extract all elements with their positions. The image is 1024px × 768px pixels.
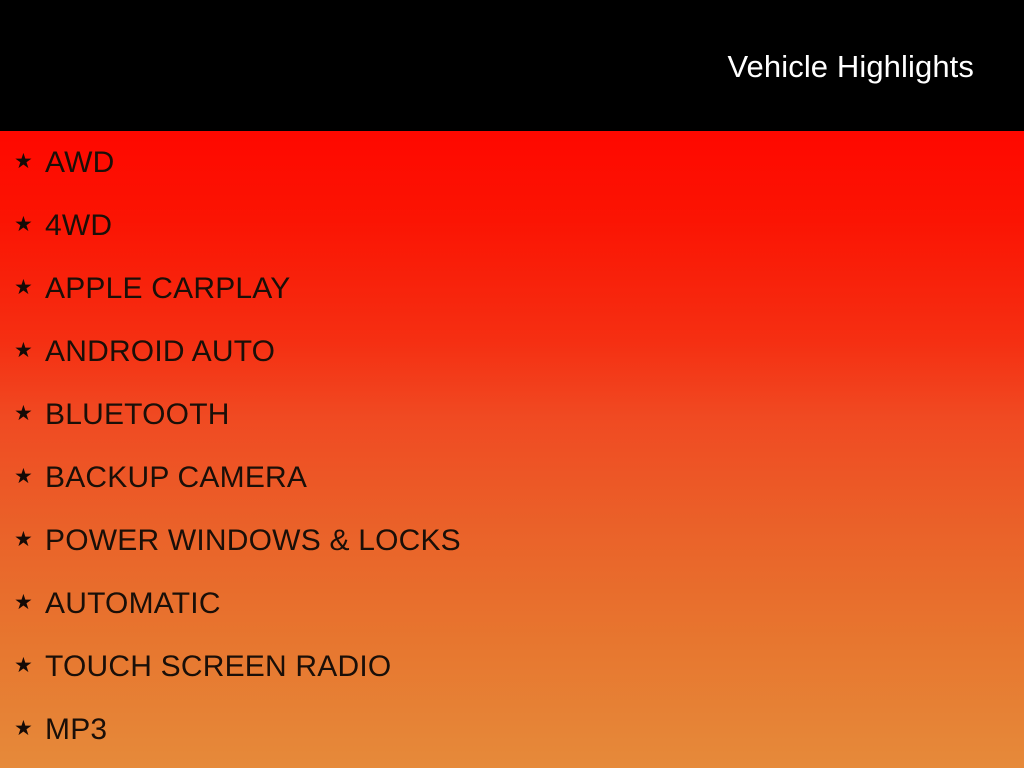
- list-item: ★TOUCH SCREEN RADIO: [0, 635, 1024, 698]
- star-icon: ★: [14, 655, 45, 676]
- list-item: ★AWD: [0, 131, 1024, 194]
- list-item: ★4WD: [0, 194, 1024, 257]
- star-icon: ★: [14, 718, 45, 739]
- list-item: ★POWER WINDOWS & LOCKS: [0, 509, 1024, 572]
- star-icon: ★: [14, 466, 45, 487]
- highlight-label: BACKUP CAMERA: [45, 463, 307, 493]
- list-item: ★BLUETOOTH: [0, 383, 1024, 446]
- vehicle-highlights-slide: Vehicle Highlights ★AWD★4WD★APPLE CARPLA…: [0, 0, 1024, 768]
- page-title: Vehicle Highlights: [727, 51, 974, 82]
- highlight-label: BLUETOOTH: [45, 400, 230, 430]
- highlight-label: MP3: [45, 715, 107, 745]
- highlight-label: POWER WINDOWS & LOCKS: [45, 526, 461, 556]
- list-item: ★BACKUP CAMERA: [0, 446, 1024, 509]
- list-item: ★ANDROID AUTO: [0, 320, 1024, 383]
- star-icon: ★: [14, 529, 45, 550]
- star-icon: ★: [14, 403, 45, 424]
- star-icon: ★: [14, 277, 45, 298]
- highlight-label: TOUCH SCREEN RADIO: [45, 652, 391, 682]
- list-item: ★MP3: [0, 698, 1024, 761]
- star-icon: ★: [14, 592, 45, 613]
- list-item: ★AUTOMATIC: [0, 572, 1024, 635]
- header-bar: Vehicle Highlights: [0, 0, 1024, 131]
- list-item: ★APPLE CARPLAY: [0, 257, 1024, 320]
- highlight-label: ANDROID AUTO: [45, 337, 275, 367]
- highlights-panel: ★AWD★4WD★APPLE CARPLAY★ANDROID AUTO★BLUE…: [0, 131, 1024, 768]
- highlight-label: APPLE CARPLAY: [45, 274, 291, 304]
- star-icon: ★: [14, 214, 45, 235]
- highlight-label: 4WD: [45, 211, 112, 241]
- star-icon: ★: [14, 340, 45, 361]
- highlight-label: AWD: [45, 148, 114, 178]
- star-icon: ★: [14, 151, 45, 172]
- highlight-label: AUTOMATIC: [45, 589, 221, 619]
- vehicle-highlights-list: ★AWD★4WD★APPLE CARPLAY★ANDROID AUTO★BLUE…: [0, 131, 1024, 761]
